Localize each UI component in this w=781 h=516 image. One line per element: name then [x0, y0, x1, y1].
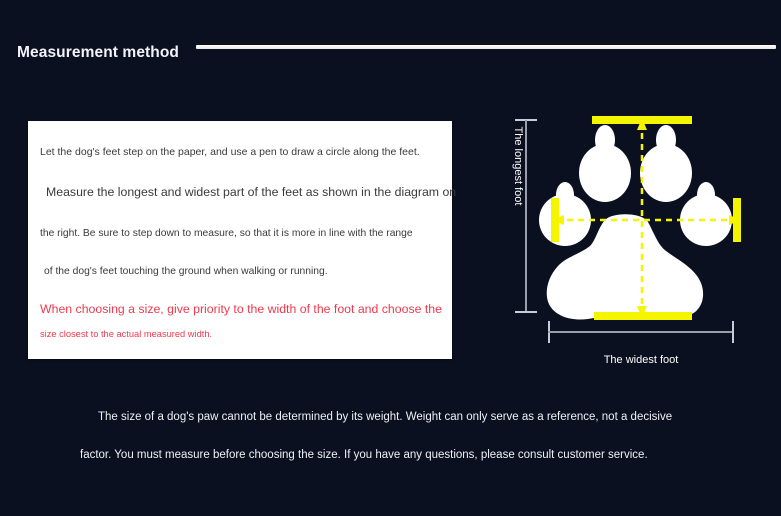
caliper-bar-bottom: [594, 312, 692, 320]
caliper-bar-left: [551, 198, 559, 242]
instruction-line-4: of the dog's feet touching the ground wh…: [44, 267, 328, 277]
header-divider-rule: [196, 45, 776, 49]
footer-line-1: The size of a dog's paw cannot be determ…: [98, 412, 672, 424]
paw-silhouette-icon: [480, 100, 770, 385]
caliper-bar-right: [733, 198, 741, 242]
widest-foot-gauge-cap-right: [732, 321, 734, 343]
paw-measurement-diagram: The longest foot: [480, 100, 770, 385]
instruction-line-2: Measure the longest and widest part of t…: [46, 186, 456, 198]
instruction-line-3: the right. Be sure to step down to measu…: [40, 229, 413, 239]
measurement-method-page: Measurement method Let the dog's feet st…: [0, 0, 781, 516]
footer-line-2: factor. You must measure before choosing…: [80, 450, 648, 462]
instruction-line-1: Let the dog's feet step on the paper, an…: [40, 147, 420, 158]
widest-foot-label: The widest foot: [548, 354, 734, 366]
instruction-highlight-line-2: size closest to the actual measured widt…: [40, 330, 212, 339]
page-title: Measurement method: [17, 44, 179, 62]
widest-foot-gauge-line: [548, 331, 734, 333]
caliper-bar-top: [592, 116, 692, 124]
instruction-highlight-line-1: When choosing a size, give priority to t…: [40, 303, 442, 315]
